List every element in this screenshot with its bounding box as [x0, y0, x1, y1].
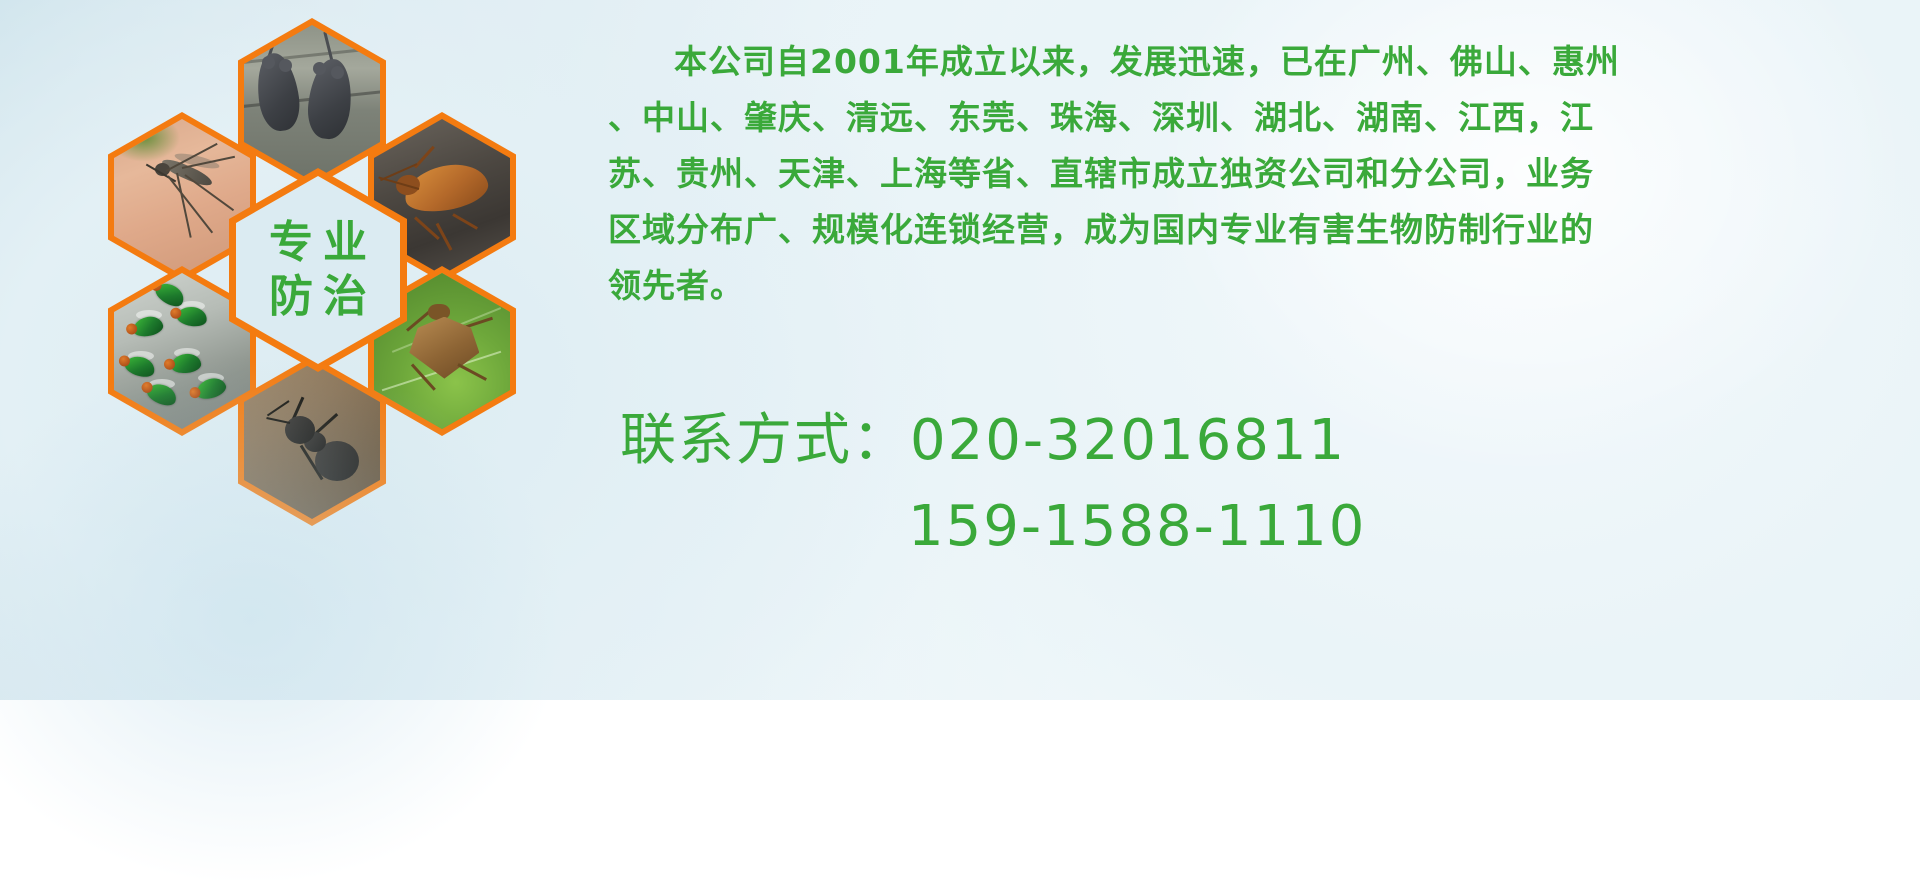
hex-tile-rats [238, 18, 386, 188]
rats-photo [244, 25, 380, 181]
company-intro-paragraph: 本公司自2001年成立以来，发展迅速，已在广州、佛山、惠州 、中山、肇庆、清远、… [608, 34, 1898, 314]
intro-line-2: 、中山、肇庆、清远、东莞、珠海、深圳、湖北、湖南、江西，江 [608, 90, 1898, 146]
ant-photo [244, 363, 380, 519]
phone-secondary[interactable]: 159-1588-1110 [908, 494, 1366, 559]
brand-label-line1: 专业 [259, 221, 377, 265]
contact-label: 联系方式： [620, 408, 910, 473]
brand-label-line2: 防治 [259, 275, 377, 319]
contact-primary-line: 联系方式：020-32016811 [620, 398, 1910, 484]
hex-tile-ant [238, 356, 386, 526]
promo-banner: 专业 防治 本公司自2001年成立以来，发展迅速，已在广州、佛山、惠州 、中山、… [0, 0, 1920, 700]
intro-line-3: 苏、贵州、天津、上海等省、直辖市成立独资公司和分公司，业务 [608, 146, 1898, 202]
contact-secondary-line: 159-1588-1110 [620, 484, 1910, 570]
phone-primary[interactable]: 020-32016811 [910, 408, 1346, 473]
hexagon-image-cluster: 专业 防治 [88, 8, 588, 568]
intro-line-1: 本公司自2001年成立以来，发展迅速，已在广州、佛山、惠州 [608, 34, 1898, 90]
contact-block: 联系方式：020-32016811 159-1588-1110 [620, 398, 1910, 570]
intro-line-5: 领先者。 [608, 258, 1898, 314]
intro-line-4: 区域分布广、规模化连锁经营，成为国内专业有害生物防制行业的 [608, 202, 1898, 258]
